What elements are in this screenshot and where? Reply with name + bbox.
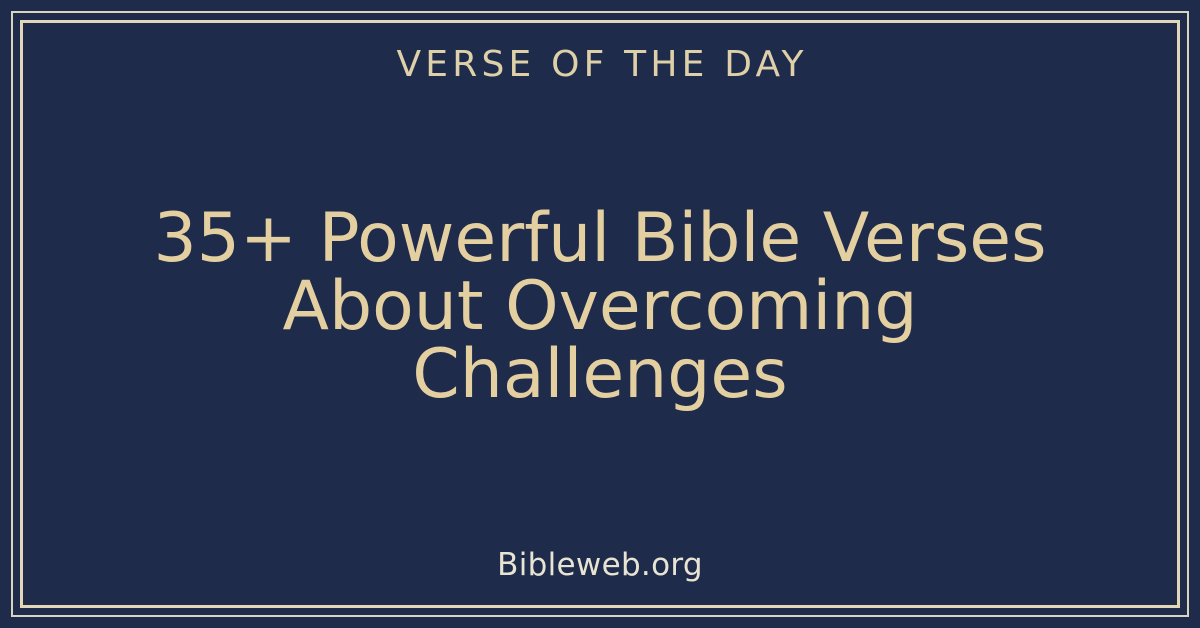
headline-wrap: 35+ Powerful Bible Verses About Overcomi… <box>24 66 1176 548</box>
verse-of-the-day-card: VERSE OF THE DAY 35+ Powerful Bible Vers… <box>0 0 1200 628</box>
site-attribution: Bibleweb.org <box>497 548 703 582</box>
page-title: 35+ Powerful Bible Verses About Overcomi… <box>153 205 1046 409</box>
page-title-line-3: Challenges <box>153 341 1046 409</box>
card-content: VERSE OF THE DAY 35+ Powerful Bible Vers… <box>24 24 1176 604</box>
page-title-line-2: About Overcoming <box>153 273 1046 341</box>
page-title-line-1: 35+ Powerful Bible Verses <box>153 205 1046 273</box>
